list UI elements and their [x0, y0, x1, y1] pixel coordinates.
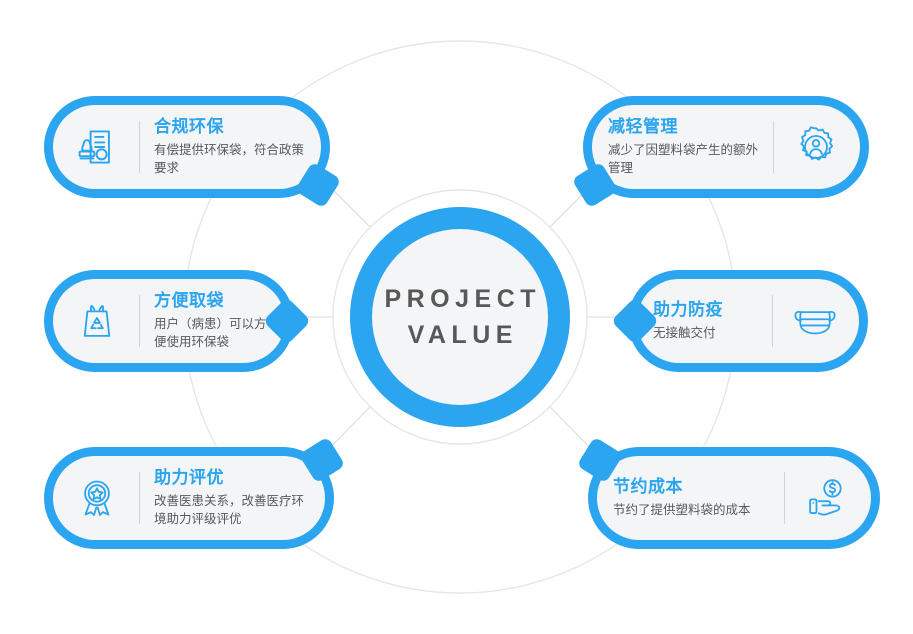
- hand-coin-icon: [799, 470, 855, 526]
- card-divider: [139, 295, 140, 347]
- card-compliance-body: 合规环保 有偿提供环保袋，符合政策要求: [53, 105, 321, 189]
- center-hub: PROJECT VALUE: [350, 207, 570, 427]
- card-divider: [139, 472, 140, 524]
- card-manage-desc: 减少了因塑料袋产生的额外管理: [608, 141, 759, 179]
- card-manage[interactable]: 减轻管理 减少了因塑料袋产生的额外管理: [583, 96, 869, 198]
- card-divider: [773, 121, 774, 173]
- document-stamp-icon: [69, 119, 125, 175]
- card-compliance-desc: 有偿提供环保袋，符合政策要求: [154, 141, 305, 179]
- card-divider: [139, 121, 140, 173]
- card-cost[interactable]: 节约成本 节约了提供塑料袋的成本: [588, 447, 880, 549]
- award-ribbon-icon: [69, 470, 125, 526]
- card-compliance-title: 合规环保: [154, 116, 305, 139]
- infographic-canvas: PROJECT VALUE 合规环保: [0, 0, 913, 634]
- card-manage-text: 减轻管理 减少了因塑料袋产生的额外管理: [608, 116, 759, 178]
- card-epidemic-text: 助力防疫 无接触交付: [653, 299, 758, 343]
- center-hub-label: PROJECT VALUE: [372, 229, 548, 405]
- card-manage-body: 减轻管理 减少了因塑料袋产生的额外管理: [592, 105, 860, 189]
- card-rating-text: 助力评优 改善医患关系，改善医疗环境助力评级评优: [154, 467, 309, 529]
- card-epidemic[interactable]: 助力防疫 无接触交付: [628, 270, 868, 372]
- card-epidemic-title: 助力防疫: [653, 299, 758, 322]
- card-epidemic-desc: 无接触交付: [653, 324, 758, 343]
- card-cost-desc: 节约了提供塑料袋的成本: [613, 501, 770, 520]
- card-rating-body: 助力评优 改善医患关系，改善医疗环境助力评级评优: [53, 456, 325, 540]
- hub-line-2: VALUE: [402, 317, 518, 353]
- card-cost-body: 节约成本 节约了提供塑料袋的成本: [597, 456, 871, 540]
- face-mask-icon: [787, 293, 843, 349]
- hub-line-1: PROJECT: [379, 281, 541, 317]
- card-rating-title: 助力评优: [154, 467, 309, 490]
- card-cost-text: 节约成本 节约了提供塑料袋的成本: [613, 476, 770, 520]
- card-bag-desc: 用户（病患）可以方便使用环保袋: [154, 315, 269, 353]
- card-rating-desc: 改善医患关系，改善医疗环境助力评级评优: [154, 492, 309, 530]
- card-divider: [772, 295, 773, 347]
- card-compliance[interactable]: 合规环保 有偿提供环保袋，符合政策要求: [44, 96, 330, 198]
- card-bag-title: 方便取袋: [154, 290, 269, 313]
- card-compliance-text: 合规环保 有偿提供环保袋，符合政策要求: [154, 116, 305, 178]
- card-bag[interactable]: 方便取袋 用户（病患）可以方便使用环保袋: [44, 270, 294, 372]
- card-cost-title: 节约成本: [613, 476, 770, 499]
- card-epidemic-body: 助力防疫 无接触交付: [637, 279, 859, 363]
- recycle-bag-icon: [69, 293, 125, 349]
- card-divider: [784, 472, 785, 524]
- card-bag-text: 方便取袋 用户（病患）可以方便使用环保袋: [154, 290, 269, 352]
- card-rating[interactable]: 助力评优 改善医患关系，改善医疗环境助力评级评优: [44, 447, 334, 549]
- gear-person-icon: [788, 119, 844, 175]
- card-bag-body: 方便取袋 用户（病患）可以方便使用环保袋: [53, 279, 285, 363]
- card-manage-title: 减轻管理: [608, 116, 759, 139]
